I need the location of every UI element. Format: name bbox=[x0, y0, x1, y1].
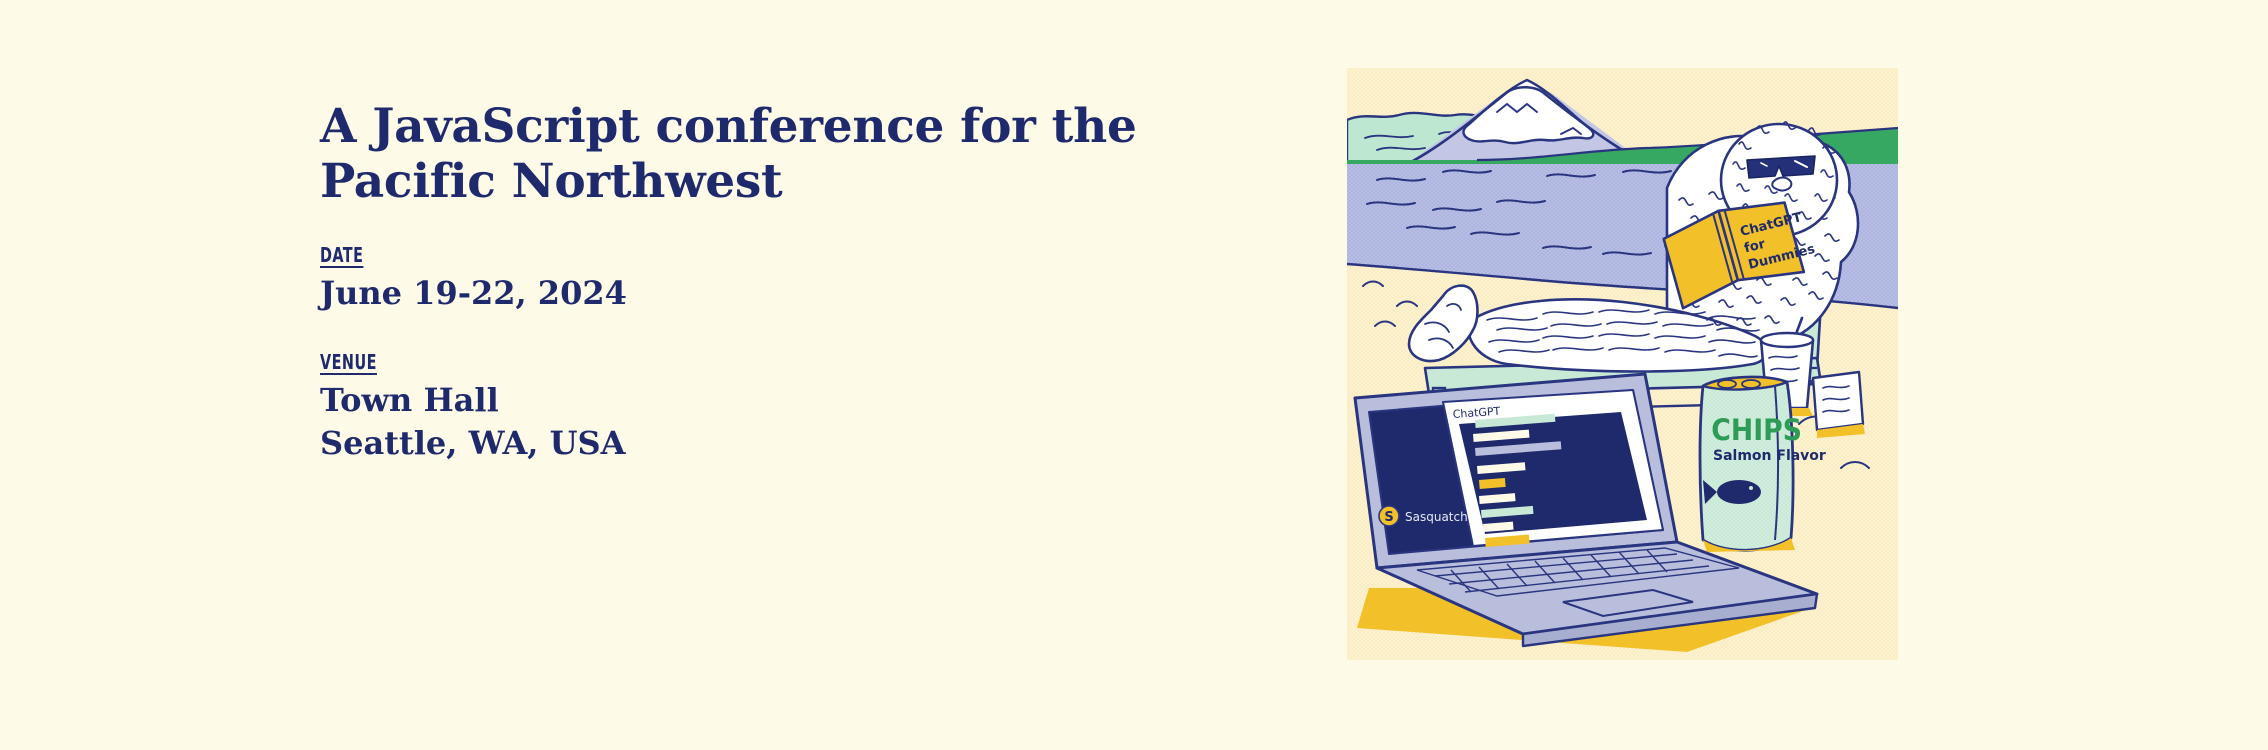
date-label: DATE bbox=[320, 243, 363, 267]
hero-text-column: A JavaScript conference for the Pacific … bbox=[320, 100, 1250, 464]
chips-bag-flavor: Salmon Flavor bbox=[1713, 448, 1826, 464]
laptop-brand-monogram: S bbox=[1384, 510, 1393, 525]
hero-illustration: ChatGPT for Dummies bbox=[1347, 68, 1898, 660]
venue-label: VENUE bbox=[320, 350, 377, 374]
conference-hero-banner: A JavaScript conference for the Pacific … bbox=[0, 0, 2268, 750]
date-value: June 19-22, 2024 bbox=[320, 272, 1250, 314]
date-info-block: DATE June 19-22, 2024 bbox=[320, 243, 1250, 314]
paper-note bbox=[1813, 372, 1865, 438]
page-title: A JavaScript conference for the Pacific … bbox=[320, 100, 1250, 209]
venue-value: Town Hall Seattle, WA, USA bbox=[320, 379, 1250, 463]
nose bbox=[1772, 178, 1791, 191]
sasquatch-beach-scene-svg: ChatGPT for Dummies bbox=[1347, 68, 1898, 660]
laptop-brand-name: Sasquatch bbox=[1405, 510, 1468, 524]
venue-info-block: VENUE Town Hall Seattle, WA, USA bbox=[320, 350, 1250, 463]
chips-bag-name: CHIPS bbox=[1711, 413, 1802, 447]
